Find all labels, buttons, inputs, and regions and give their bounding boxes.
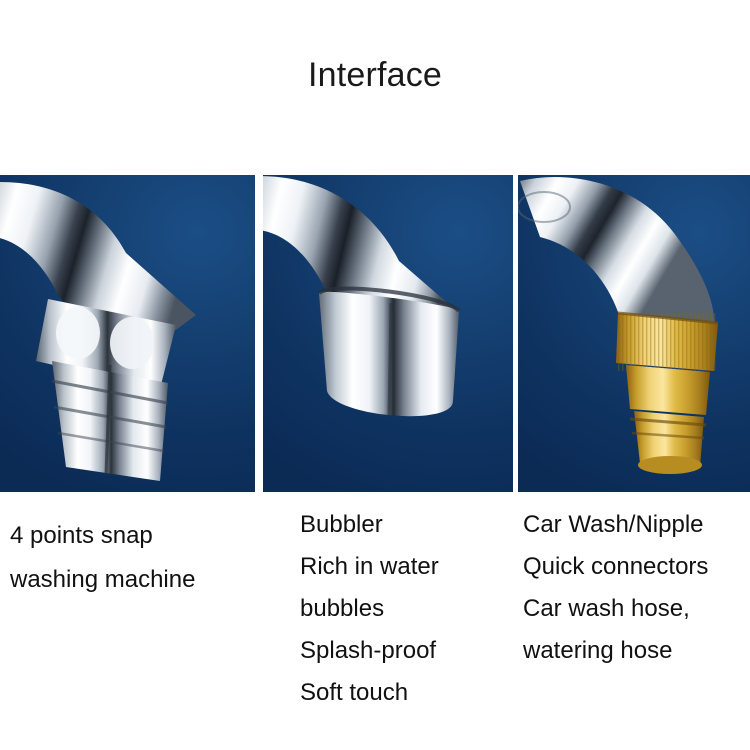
caption-line: Rich in water bbox=[300, 546, 510, 588]
caption-line: 4 points snap bbox=[10, 514, 250, 558]
caption-line: Soft touch bbox=[300, 672, 510, 714]
caption-line: Quick connectors bbox=[523, 546, 748, 588]
caption-line: washing machine bbox=[10, 558, 250, 602]
product-panel-bubbler bbox=[263, 175, 513, 492]
product-panel-car-wash-nipple bbox=[518, 175, 750, 492]
chrome-faucet-spout-four-point-snap-icon bbox=[0, 175, 255, 492]
caption-line: Car wash hose, bbox=[523, 588, 748, 630]
caption-line: bubbles bbox=[300, 588, 510, 630]
caption-column-car-wash-nipple: Car Wash/Nipple Quick connectors Car was… bbox=[523, 492, 748, 672]
caption-line: Bubbler bbox=[300, 504, 510, 546]
title-bar: Interface bbox=[0, 0, 750, 175]
caption-line: Splash-proof bbox=[300, 630, 510, 672]
chrome-faucet-spout-brass-quick-connector-icon bbox=[518, 175, 750, 492]
caption-area: 4 points snap washing machine Bubbler Ri… bbox=[0, 492, 750, 750]
panel-divider-1 bbox=[255, 175, 263, 492]
caption-line: Car Wash/Nipple bbox=[523, 504, 748, 546]
caption-column-bubbler: Bubbler Rich in water bubbles Splash-pro… bbox=[300, 492, 510, 714]
caption-column-four-point-snap: 4 points snap washing machine bbox=[10, 492, 250, 602]
chrome-faucet-spout-bubbler-icon bbox=[263, 175, 513, 492]
page-title: Interface bbox=[0, 54, 750, 96]
product-image-band bbox=[0, 175, 750, 492]
product-panel-four-point-snap bbox=[0, 175, 255, 492]
caption-line: watering hose bbox=[523, 630, 748, 672]
